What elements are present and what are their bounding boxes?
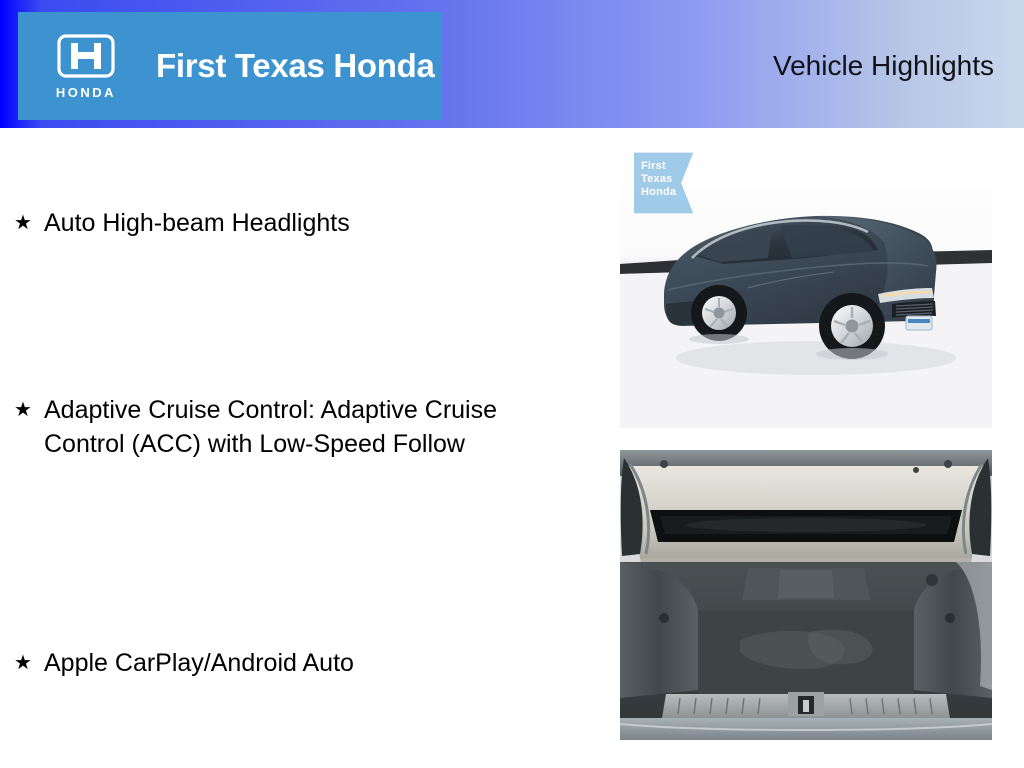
- photo-watermark: First Texas Honda: [634, 150, 710, 216]
- list-item-label: Apple CarPlay/Android Auto: [44, 646, 560, 680]
- star-icon: ★: [14, 646, 44, 680]
- list-item: ★ Apple CarPlay/Android Auto: [0, 646, 560, 680]
- page-title: Vehicle Highlights: [773, 50, 994, 82]
- star-icon: ★: [14, 206, 44, 240]
- star-icon: ★: [14, 393, 44, 427]
- watermark-text: First Texas Honda: [641, 160, 676, 199]
- dealer-name: First Texas Honda: [156, 47, 435, 85]
- list-item-label: Adaptive Cruise Control: Adaptive Cruise…: [44, 393, 560, 461]
- honda-wordmark: HONDA: [56, 86, 116, 99]
- watermark-line-1: First: [641, 160, 676, 173]
- dealer-logo-banner: HONDA First Texas Honda: [18, 12, 442, 120]
- highlights-list: ★ Auto High-beam Headlights ★ Adaptive C…: [0, 128, 600, 768]
- vehicle-trunk-photo: [620, 450, 992, 740]
- watermark-line-2: Texas: [641, 173, 676, 186]
- slide-header: HONDA First Texas Honda Vehicle Highligh…: [0, 0, 1024, 128]
- watermark-line-3: Honda: [641, 186, 676, 199]
- list-item: ★ Auto High-beam Headlights: [0, 206, 560, 240]
- honda-h-emblem-icon: [57, 34, 115, 83]
- list-item-label: Auto High-beam Headlights: [44, 206, 560, 240]
- vehicle-exterior-photo: First Texas Honda: [620, 146, 992, 428]
- list-item: ★ Adaptive Cruise Control: Adaptive Crui…: [0, 393, 560, 461]
- honda-logo: HONDA: [38, 34, 134, 99]
